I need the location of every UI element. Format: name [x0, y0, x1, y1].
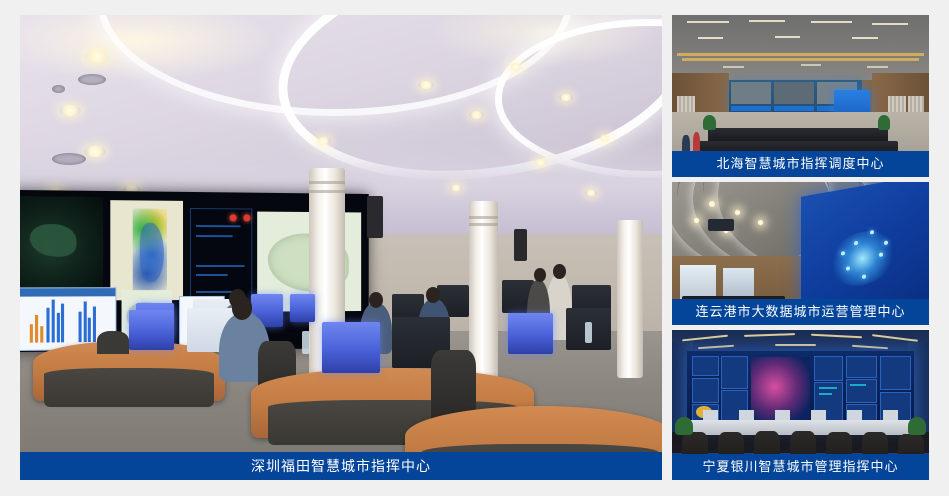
gallery-page: 深圳福田智慧城市指挥中心	[0, 0, 949, 496]
dashboard-video-wall	[687, 351, 913, 429]
wall-tile-satellite-map	[20, 196, 103, 287]
downlight	[84, 50, 110, 63]
operator-monitor	[322, 322, 380, 373]
console-monitor	[811, 410, 826, 421]
console-monitor	[847, 410, 862, 421]
operator-monitor	[290, 294, 316, 322]
hall-ceiling	[672, 15, 929, 80]
downlight	[757, 219, 764, 226]
water-bottle	[585, 322, 592, 343]
ceiling-speaker	[367, 196, 384, 238]
water-bottle	[302, 331, 310, 354]
downlight	[508, 63, 523, 71]
ceiling-speaker	[514, 229, 527, 262]
thumbnail-caption-1: 北海智慧城市指挥调度中心	[672, 151, 929, 177]
console-monitor	[775, 410, 790, 421]
ceiling-vent	[52, 153, 86, 165]
room-column	[617, 220, 643, 378]
thumbnail-card-2[interactable]: 连云港市大数据城市运营管理中心	[672, 182, 929, 325]
alert-indicator	[243, 214, 250, 221]
console-monitor	[703, 410, 718, 421]
downlight	[708, 200, 716, 208]
downlight	[734, 209, 741, 216]
staff-head	[534, 268, 546, 282]
potted-plant	[675, 417, 693, 435]
operator-monitor	[508, 313, 553, 355]
downlight	[534, 159, 547, 166]
operator-monitor	[129, 310, 174, 350]
main-photo-caption: 深圳福田智慧城市指挥中心	[20, 452, 662, 480]
downlight	[559, 94, 573, 101]
projector	[708, 219, 734, 230]
led-graphic-glow	[830, 226, 894, 291]
wall-tile-weather-radar	[110, 200, 183, 299]
thumbnail-caption-3: 宁夏银川智慧城市管理指挥中心	[672, 454, 929, 480]
alert-indicator	[229, 214, 236, 221]
operator-head	[232, 296, 253, 319]
ceiling-vent	[78, 74, 106, 85]
thumbnail-card-3[interactable]: 宁夏银川智慧城市管理指挥中心	[672, 330, 929, 480]
thumbnail-card-1[interactable]: 北海智慧城市指挥调度中心	[672, 15, 929, 177]
downlight	[59, 105, 81, 116]
thumbnail-caption-2: 连云港市大数据城市运营管理中心	[672, 299, 929, 325]
ceiling-vent	[52, 85, 65, 93]
console-monitor	[739, 410, 754, 421]
potted-plant	[878, 115, 891, 130]
shenzhen-futian-command-center-photo	[20, 15, 662, 480]
main-photo-card[interactable]: 深圳福田智慧城市指挥中心	[20, 15, 662, 480]
potted-plant	[703, 115, 716, 130]
downlight	[418, 81, 434, 89]
console-monitor	[883, 410, 898, 421]
potted-plant	[908, 417, 926, 435]
downlight	[585, 190, 597, 196]
staff-head	[553, 264, 566, 279]
speaker-pod	[97, 331, 129, 354]
